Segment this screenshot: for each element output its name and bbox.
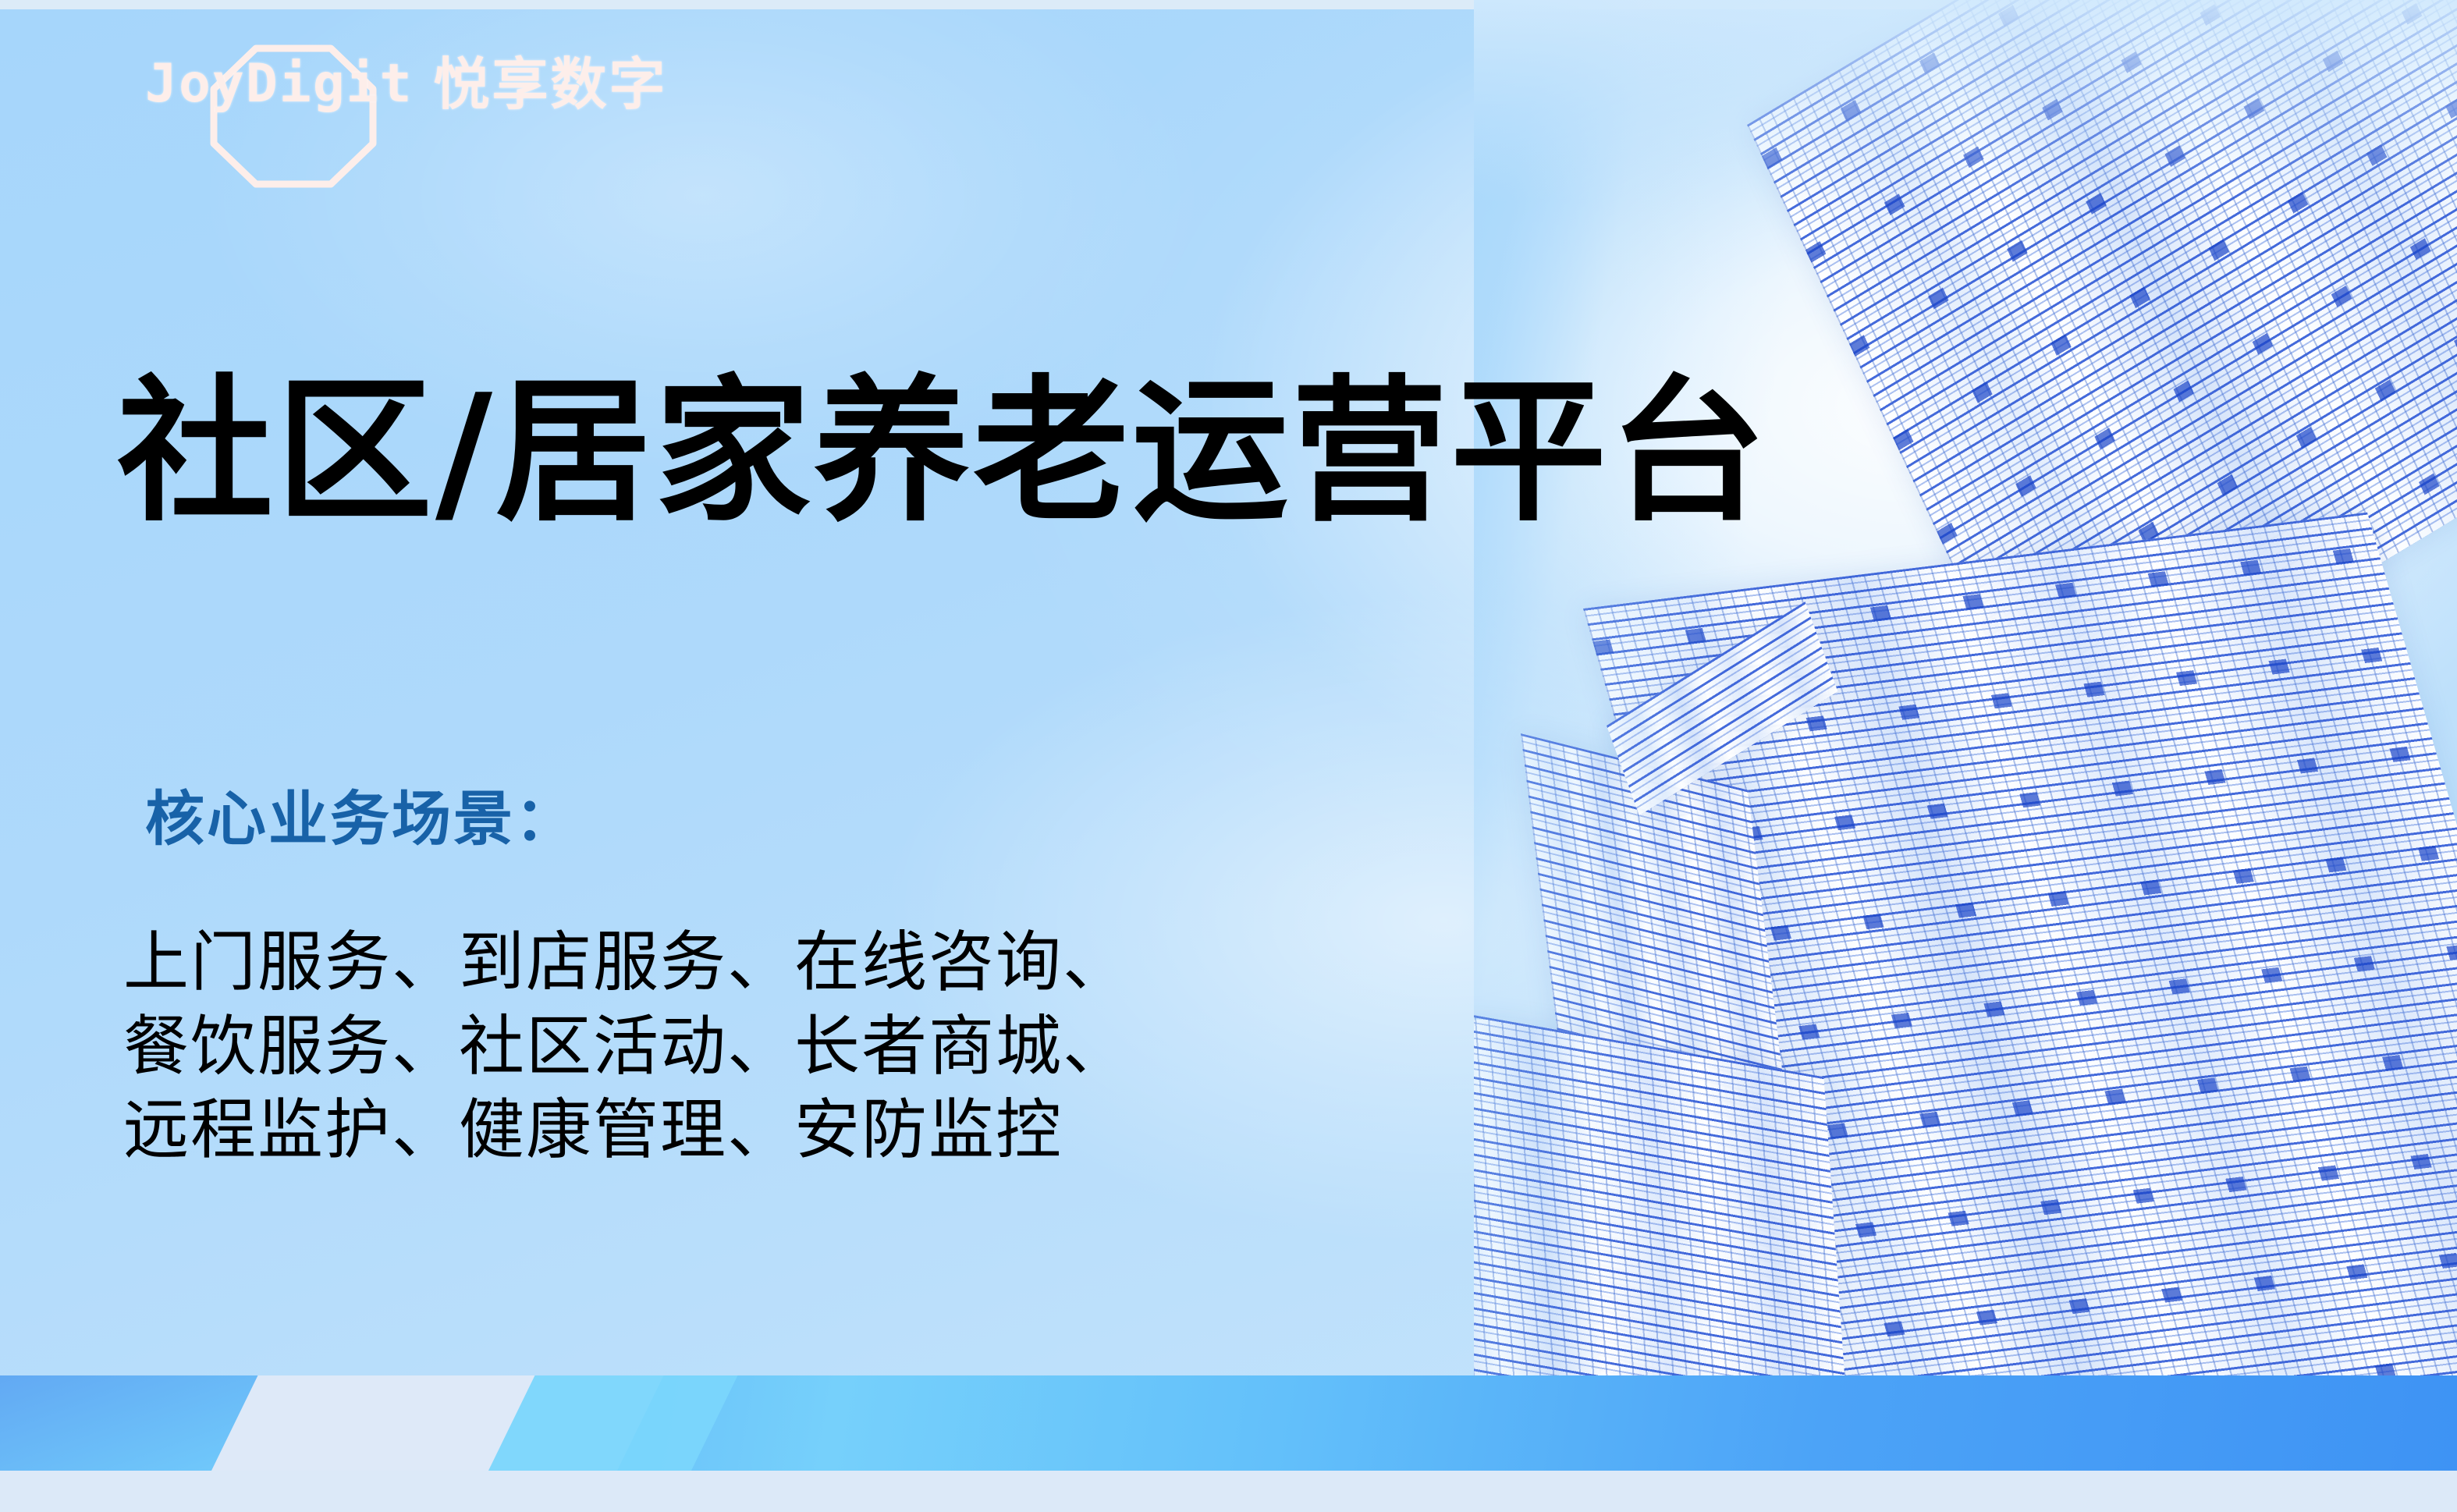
brand-logo[interactable]: JoyDigit 悦享数字 xyxy=(145,56,668,112)
scenario-line: 上门服务、到店服务、在线咨询、 xyxy=(123,921,1130,1005)
top-edge-strip xyxy=(0,0,2457,9)
scenario-line: 餐饮服务、社区活动、长者商城、 xyxy=(123,1005,1130,1089)
logo-chinese-wordmark: 悦享数字 xyxy=(434,56,668,112)
core-scenarios-list: 上门服务、到店服务、在线咨询、 餐饮服务、社区活动、长者商城、 远程监护、健康管… xyxy=(123,921,1130,1173)
bottom-banner xyxy=(0,1375,2457,1471)
logo-latin-wordmark: JoyDigit xyxy=(145,58,414,111)
slide-root: JoyDigit 悦享数字 社区/居家养老运营平台 核心业务场景： 上门服务、到… xyxy=(0,0,2457,1512)
core-scenarios-label: 核心业务场景： xyxy=(145,771,577,857)
scenario-line: 远程监护、健康管理、安防监控 xyxy=(123,1088,1130,1173)
sky-background xyxy=(0,0,2457,1512)
page-title: 社区/居家养老运营平台 xyxy=(117,368,1769,537)
